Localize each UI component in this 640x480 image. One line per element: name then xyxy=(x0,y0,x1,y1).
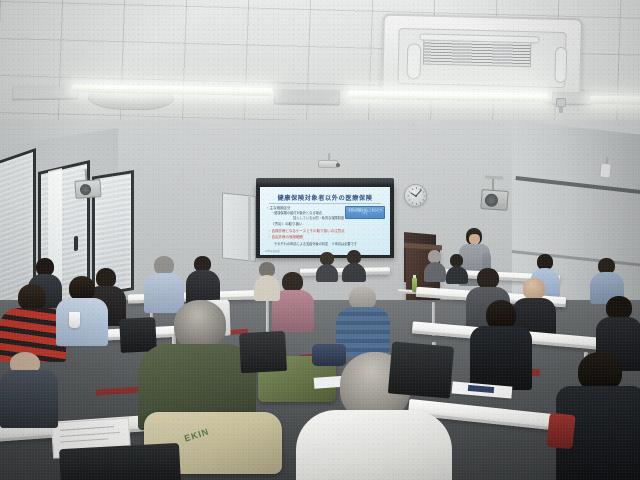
emergency-light xyxy=(556,98,566,107)
paper-cup xyxy=(69,312,80,328)
fluorescent-strip-right xyxy=(590,96,640,105)
attendee-olive-jacket xyxy=(138,300,256,420)
ac-grille xyxy=(423,39,532,68)
body xyxy=(254,275,280,301)
body xyxy=(0,370,58,428)
whiteboard-edge xyxy=(248,197,251,261)
attendee-back-row-dark xyxy=(316,252,338,278)
clock-tick xyxy=(407,195,409,196)
attendee-dark-left xyxy=(0,352,58,422)
lecture-room-photo: 健康保険対象者以外の医療保険 今回の話題は主にこちらについて ・主な適用区分 －… xyxy=(0,0,640,480)
slide-bullet: 加入している公的・私的な保険制度 xyxy=(290,217,344,221)
clock-tick xyxy=(422,199,424,201)
slide-bullet: ・自費診療となるケースとその取り扱いの注意点 xyxy=(268,230,345,234)
body xyxy=(316,264,338,282)
head xyxy=(477,268,499,289)
clock-tick xyxy=(419,201,421,203)
attendee-back-row-dark xyxy=(254,262,280,296)
attendee-black-suit-right xyxy=(470,300,532,386)
slide-bullet: ・自由診療の適用範囲 xyxy=(268,236,303,240)
ceiling-projector xyxy=(318,160,338,168)
slide-title: 健康保険対象者以外の医療保険 xyxy=(260,193,390,202)
clock-tick xyxy=(408,199,410,201)
body xyxy=(424,262,446,282)
attendee-back-row-dark xyxy=(446,254,468,280)
table-leg xyxy=(266,299,269,335)
red-bag xyxy=(546,413,575,450)
ceiling-cassette-air-conditioner xyxy=(381,14,583,103)
body xyxy=(470,326,532,390)
attendee-back-row-dark xyxy=(424,250,446,278)
slide-callout-badge: 今回の話題は主にこちらについて xyxy=(345,206,385,219)
head xyxy=(282,272,303,292)
attendee-back-row-dark xyxy=(186,256,220,304)
ac-vane-right xyxy=(554,47,567,83)
projection-screen[interactable]: 健康保険対象者以外の医療保険 今回の話題は主にこちらについて ・主な適用区分 －… xyxy=(256,184,394,258)
clock-tick xyxy=(411,187,413,189)
wall-speaker-right xyxy=(480,189,508,211)
clock-tick xyxy=(423,195,425,196)
attendee-blue-check xyxy=(336,286,390,352)
slide-bullet: （労災）の取り扱い xyxy=(271,223,303,227)
clock-center xyxy=(415,195,417,197)
body xyxy=(56,298,108,346)
right-wall-fixture xyxy=(599,162,612,178)
body xyxy=(296,410,452,480)
ac-inner-panel xyxy=(397,28,566,88)
window-handle[interactable] xyxy=(74,236,78,252)
body xyxy=(446,266,468,284)
attendee-back-row-dark xyxy=(342,250,366,278)
head xyxy=(347,250,361,264)
presentation-slide: 健康保険対象者以外の医療保険 今回の話題は主にこちらについて ・主な適用区分 －… xyxy=(260,187,390,255)
clock-tick xyxy=(416,203,417,205)
slide-footer: 2015年度研修 xyxy=(265,249,280,253)
head xyxy=(523,278,545,300)
ac-vane-left xyxy=(406,43,421,79)
stacking-chair[interactable] xyxy=(388,341,454,398)
body xyxy=(342,263,366,282)
stacking-chair[interactable] xyxy=(239,331,287,373)
clock-tick xyxy=(411,201,413,203)
clock-tick xyxy=(422,191,424,193)
slide-bullet: それぞれの申請による支給対象の判定 ※申請は必要です xyxy=(271,243,357,247)
head xyxy=(18,284,46,311)
light-fixture-center xyxy=(274,89,340,105)
clock-tick xyxy=(416,187,417,189)
stacking-chair[interactable] xyxy=(59,443,181,480)
slide-title-rule xyxy=(269,203,381,204)
head xyxy=(174,300,226,350)
light-fixture-left xyxy=(12,85,78,100)
attendee-light-blue-front xyxy=(56,276,108,342)
analog-wall-clock xyxy=(404,184,427,207)
wall-speaker-left xyxy=(74,179,101,199)
